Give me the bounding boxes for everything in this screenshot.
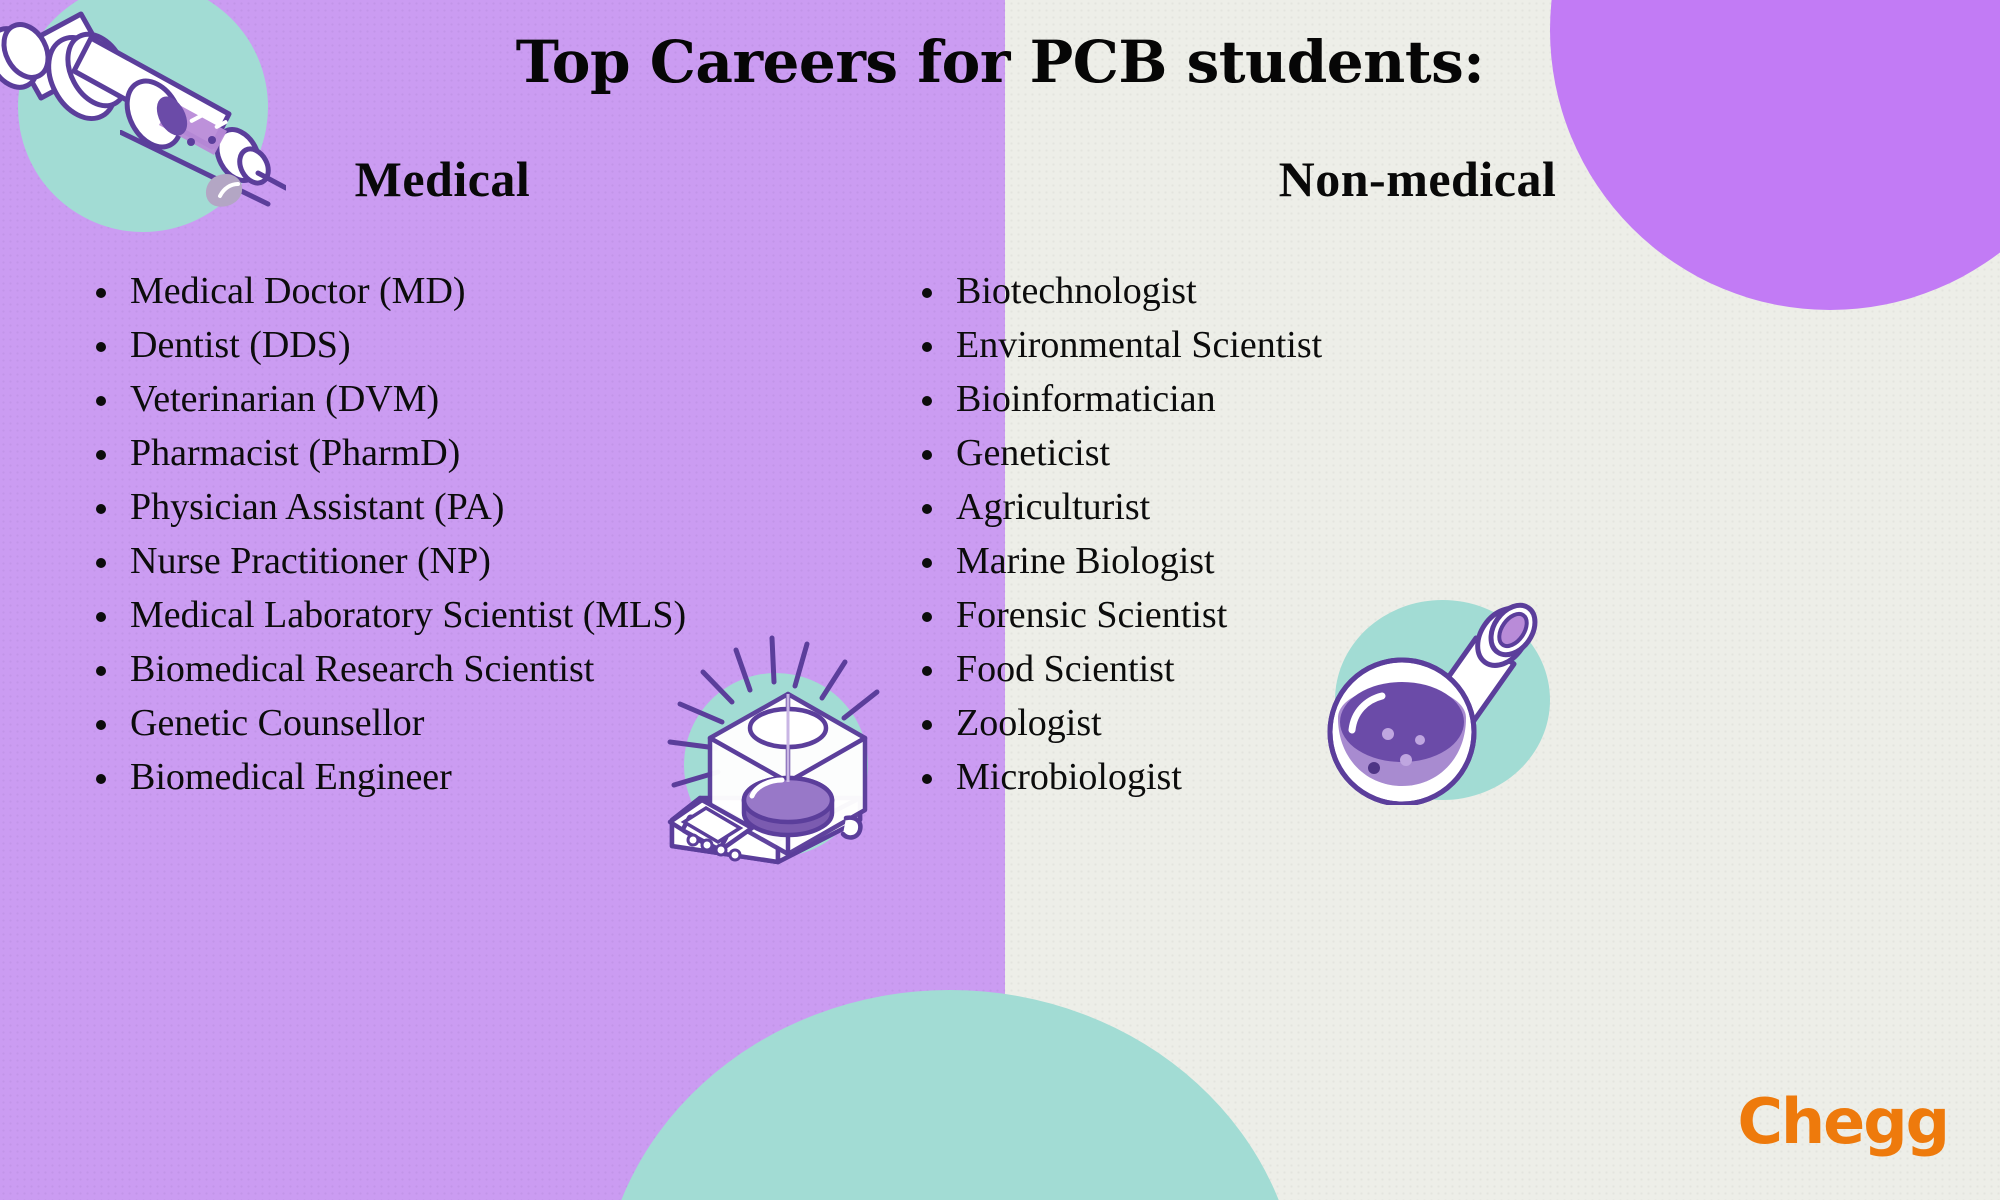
list-item: Genetic Counsellor [88, 696, 1005, 750]
list-item: Biomedical Engineer [88, 750, 1005, 804]
medical-heading: Medical [0, 150, 1005, 208]
list-item: Marine Biologist [914, 534, 2000, 588]
chegg-logo: Chegg [1738, 1085, 1948, 1158]
list-item: Veterinarian (DVM) [88, 372, 1005, 426]
infographic-poster: Top Careers for PCB students: Medical Me… [0, 0, 2000, 1200]
list-item: Medical Laboratory Scientist (MLS) [88, 588, 1005, 642]
list-item: Microbiologist [914, 750, 2000, 804]
list-item: Bioinformatician [914, 372, 2000, 426]
non-medical-career-list: Biotechnologist Environmental Scientist … [1005, 264, 2000, 804]
list-item: Biotechnologist [914, 264, 2000, 318]
list-item: Medical Doctor (MD) [88, 264, 1005, 318]
medical-column: Medical Medical Doctor (MD) Dentist (DDS… [0, 150, 1005, 804]
list-item: Pharmacist (PharmD) [88, 426, 1005, 480]
list-item: Forensic Scientist [914, 588, 2000, 642]
list-item: Biomedical Research Scientist [88, 642, 1005, 696]
list-item: Zoologist [914, 696, 2000, 750]
list-item: Environmental Scientist [914, 318, 2000, 372]
list-item: Nurse Practitioner (NP) [88, 534, 1005, 588]
non-medical-column: Non-medical Biotechnologist Environmenta… [1005, 150, 2000, 804]
list-item: Agriculturist [914, 480, 2000, 534]
list-item: Dentist (DDS) [88, 318, 1005, 372]
list-item: Food Scientist [914, 642, 2000, 696]
list-item: Geneticist [914, 426, 2000, 480]
page-title: Top Careers for PCB students: [0, 28, 2000, 96]
medical-career-list: Medical Doctor (MD) Dentist (DDS) Veteri… [88, 264, 1005, 804]
non-medical-heading: Non-medical [1005, 150, 2000, 208]
list-item: Physician Assistant (PA) [88, 480, 1005, 534]
